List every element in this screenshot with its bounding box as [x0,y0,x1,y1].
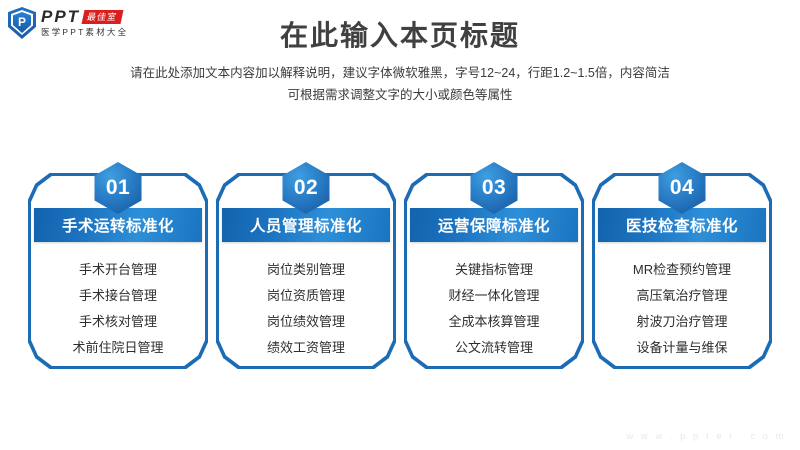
card-number: 01 [106,176,130,200]
footer-watermark: w w w . p p t e r . c o m [626,431,786,442]
card-item-list: 关键指标管理 财经一体化管理 全成本核算管理 公文流转管理 [414,252,574,360]
list-item[interactable]: 射波刀治疗管理 [636,308,727,334]
card-number-badge: 04 [659,162,706,214]
list-item[interactable]: 手术核对管理 [79,308,157,334]
page-title: 在此输入本页标题 [0,14,800,54]
card-number: 03 [482,176,506,200]
list-item[interactable]: 手术接台管理 [79,282,157,308]
card-number: 02 [294,176,318,200]
list-item[interactable]: 设备计量与维保 [636,334,727,360]
list-item[interactable]: 手术开台管理 [79,256,157,282]
card-item-list: 手术开台管理 手术接台管理 手术核对管理 术前住院日管理 [38,252,198,360]
list-item[interactable]: 公文流转管理 [455,334,533,360]
list-item[interactable]: 全成本核算管理 [448,308,539,334]
list-item[interactable]: MR检查预约管理 [633,256,731,282]
subtitle-line-1: 请在此处添加文本内容加以解释说明，建议字体微软雅黑，字号12~24，行距1.2~… [0,62,800,84]
card-01[interactable]: 01 手术运转标准化 手术开台管理 手术接台管理 手术核对管理 术前住院日管理 [28,160,208,370]
list-item[interactable]: 高压氧治疗管理 [636,282,727,308]
list-item[interactable]: 关键指标管理 [455,256,533,282]
card-item-list: 岗位类别管理 岗位资质管理 岗位绩效管理 绩效工资管理 [226,252,386,360]
list-item[interactable]: 岗位类别管理 [267,256,345,282]
card-number-badge: 03 [471,162,518,214]
card-row: 01 手术运转标准化 手术开台管理 手术接台管理 手术核对管理 术前住院日管理 … [28,160,772,370]
list-item[interactable]: 术前住院日管理 [72,334,163,360]
list-item[interactable]: 绩效工资管理 [267,334,345,360]
card-02[interactable]: 02 人员管理标准化 岗位类别管理 岗位资质管理 岗位绩效管理 绩效工资管理 [216,160,396,370]
card-number: 04 [670,176,694,200]
list-item[interactable]: 财经一体化管理 [448,282,539,308]
list-item[interactable]: 岗位绩效管理 [267,308,345,334]
card-03[interactable]: 03 运营保障标准化 关键指标管理 财经一体化管理 全成本核算管理 公文流转管理 [404,160,584,370]
page-subtitle: 请在此处添加文本内容加以解释说明，建议字体微软雅黑，字号12~24，行距1.2~… [0,62,800,106]
card-04[interactable]: 04 医技检查标准化 MR检查预约管理 高压氧治疗管理 射波刀治疗管理 设备计量… [592,160,772,370]
card-number-badge: 01 [95,162,142,214]
card-number-badge: 02 [283,162,330,214]
list-item[interactable]: 岗位资质管理 [267,282,345,308]
card-item-list: MR检查预约管理 高压氧治疗管理 射波刀治疗管理 设备计量与维保 [602,252,762,360]
subtitle-line-2: 可根据需求调整文字的大小或颜色等属性 [0,84,800,106]
